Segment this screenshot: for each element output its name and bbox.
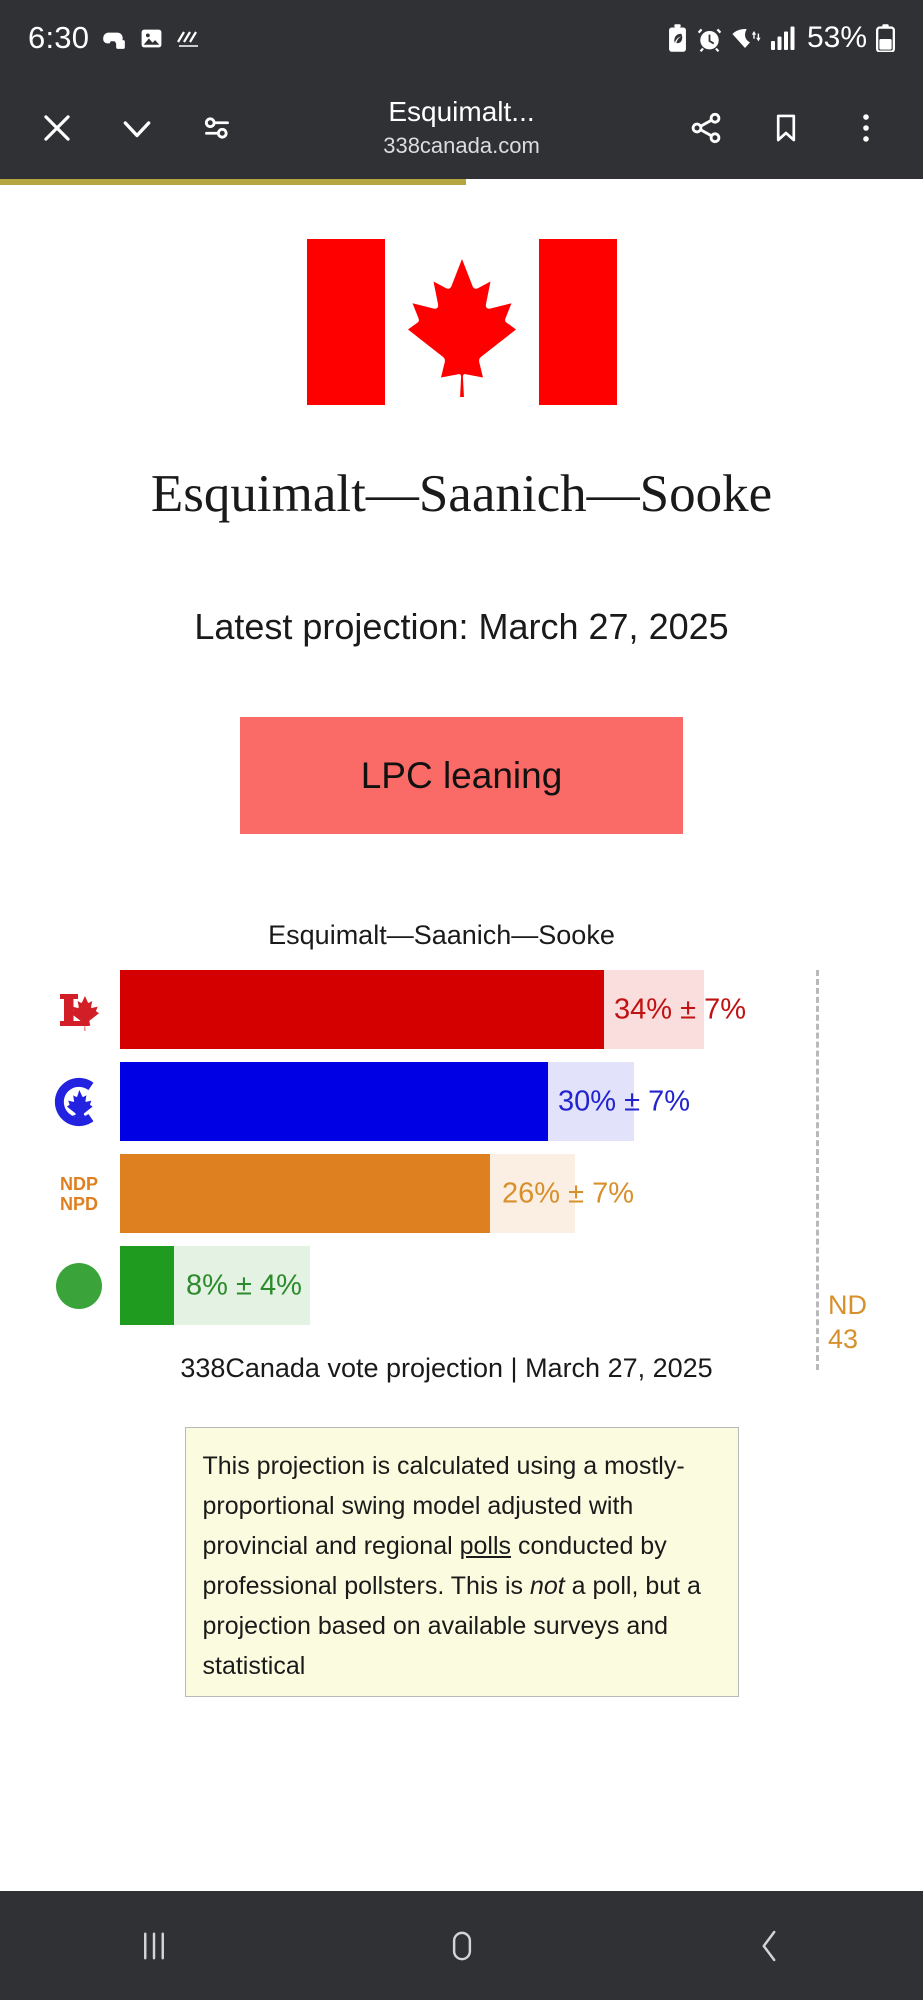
- chart-track-lpc: 34% ± 7%: [120, 970, 832, 1049]
- canadian-flag: [307, 239, 617, 405]
- page-host: 338canada.com: [250, 131, 673, 161]
- leaning-banner: LPC leaning: [240, 717, 683, 834]
- chart-bar-row-cpc: 30% ± 7%: [48, 1062, 923, 1141]
- chart-track-ndp: 26% ± 7%: [120, 1154, 832, 1233]
- game-controller-icon: [101, 25, 127, 51]
- chart-bar-label-gpc: 8% ± 4%: [186, 1269, 302, 1302]
- status-bar-right: 53%: [668, 21, 895, 55]
- polls-link[interactable]: polls: [460, 1532, 511, 1560]
- status-bar-clock: 6:30: [28, 20, 89, 56]
- ndp-party-logo: NDP NPD: [48, 1154, 110, 1233]
- toolbar-title-block[interactable]: Esquimalt... 338canada.com: [244, 95, 679, 161]
- more-options-icon[interactable]: [839, 101, 893, 155]
- chevron-down-icon[interactable]: [110, 101, 164, 155]
- conservative-party-logo: [48, 1062, 110, 1141]
- flag-band-right: [539, 239, 617, 405]
- wifi-icon: [732, 25, 762, 51]
- chart-bar-fill-ndp: [120, 1154, 490, 1233]
- chart-bar-fill-cpc: [120, 1062, 548, 1141]
- reference-line-label: ND 43: [828, 1288, 923, 1356]
- alarm-icon: [696, 25, 723, 52]
- reference-line-label-line2: 43: [828, 1322, 923, 1356]
- page-options-icon[interactable]: [190, 101, 244, 155]
- back-icon[interactable]: [615, 1925, 923, 1967]
- chart-track-cpc: 30% ± 7%: [120, 1062, 832, 1141]
- close-icon[interactable]: [30, 101, 84, 155]
- browser-toolbar: Esquimalt... 338canada.com: [0, 76, 923, 179]
- green-party-logo: [48, 1246, 110, 1325]
- flag-band-left: [307, 239, 385, 405]
- chart-bar-row-lpc: 34% ± 7%: [48, 970, 923, 1049]
- chart-track-gpc: 8% ± 4%: [120, 1246, 832, 1325]
- web-page-content: Esquimalt—Saanich—Sooke Latest projectio…: [0, 185, 923, 1891]
- motion-lines-icon: [176, 28, 202, 48]
- battery-percentage: 53%: [807, 21, 867, 55]
- page-heading: Esquimalt—Saanich—Sooke: [0, 463, 923, 525]
- status-bar-left: 6:30: [28, 20, 202, 56]
- chart-title: Esquimalt—Saanich—Sooke: [0, 918, 923, 952]
- projection-note-box: This projection is calculated using a mo…: [185, 1427, 739, 1697]
- status-bar: 6:30: [0, 0, 923, 76]
- chart-bar-label-ndp: 26% ± 7%: [502, 1177, 634, 1210]
- maple-leaf-icon: [387, 247, 537, 397]
- battery-icon: [876, 24, 895, 52]
- share-icon[interactable]: [679, 101, 733, 155]
- battery-saver-icon: [668, 24, 687, 52]
- leaning-banner-label: LPC leaning: [361, 755, 563, 797]
- android-navigation-bar: [0, 1891, 923, 2000]
- chart-bar-row-ndp: NDP NPD 26% ± 7%: [48, 1154, 923, 1233]
- image-icon: [139, 26, 164, 51]
- vote-projection-chart: Esquimalt—Saanich—Sooke ND 43 34%: [0, 918, 923, 1385]
- page-title: Esquimalt...: [250, 95, 673, 129]
- svg-text:NDP: NDP: [60, 1174, 98, 1194]
- bookmark-icon[interactable]: [759, 101, 813, 155]
- recent-apps-icon[interactable]: [0, 1925, 308, 1967]
- note-emphasis-not: not: [530, 1572, 565, 1600]
- chart-bar-fill-lpc: [120, 970, 604, 1049]
- reference-line-label-line1: ND: [828, 1288, 923, 1322]
- note-line-4: projection based on available surveys an…: [203, 1606, 721, 1686]
- chart-bar-label-cpc: 30% ± 7%: [558, 1085, 690, 1118]
- chart-plot-area: ND 43 34% ± 7%: [0, 970, 923, 1325]
- svg-text:NPD: NPD: [60, 1194, 98, 1214]
- liberal-party-logo: [48, 970, 110, 1049]
- chart-bar-fill-gpc: [120, 1246, 174, 1325]
- chart-bar-label-lpc: 34% ± 7%: [614, 993, 746, 1026]
- chart-caption: 338Canada vote projection | March 27, 20…: [0, 1351, 923, 1385]
- latest-projection-text: Latest projection: March 27, 2025: [0, 605, 923, 649]
- note-line-3b: a poll, but a: [565, 1572, 701, 1600]
- signal-bars-icon: [771, 26, 796, 50]
- home-icon[interactable]: [308, 1925, 616, 1967]
- chart-bar-row-gpc: 8% ± 4%: [48, 1246, 923, 1325]
